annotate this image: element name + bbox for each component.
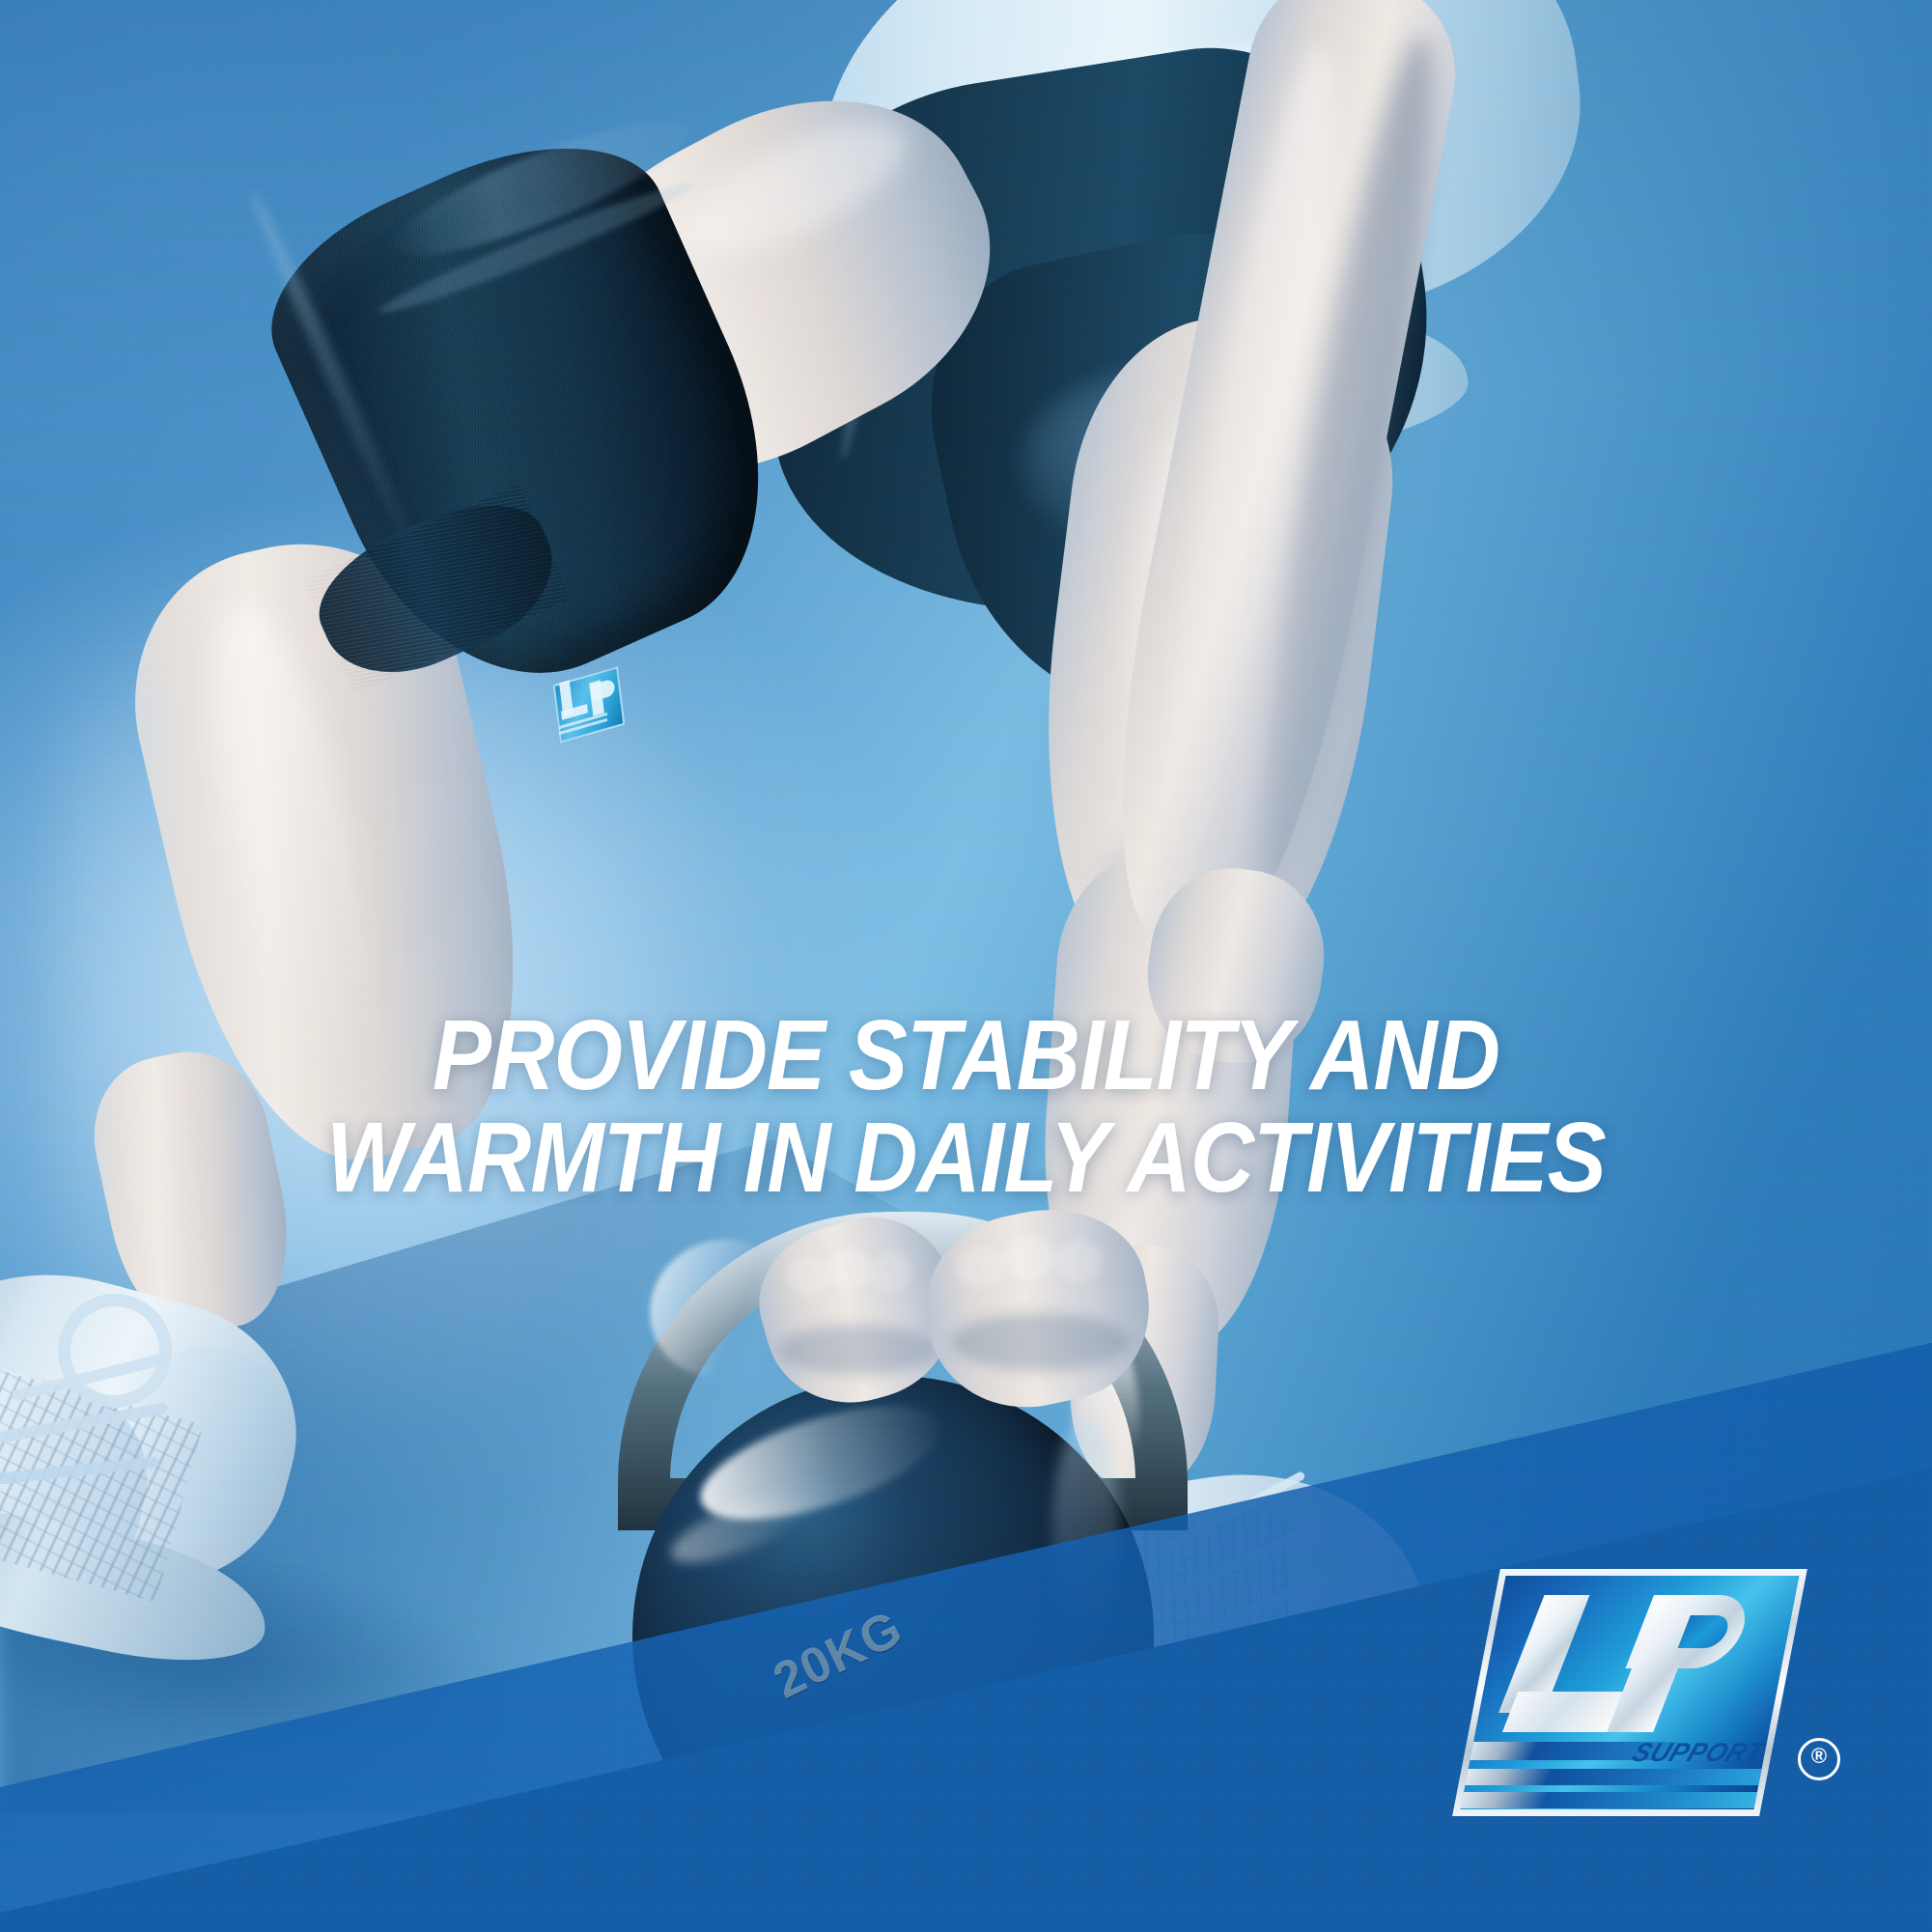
film-grain-overlay xyxy=(0,0,1932,1932)
advertisement-canvas: PROVIDE STABILITY AND WARMTH IN DAILY AC… xyxy=(0,0,1932,1932)
